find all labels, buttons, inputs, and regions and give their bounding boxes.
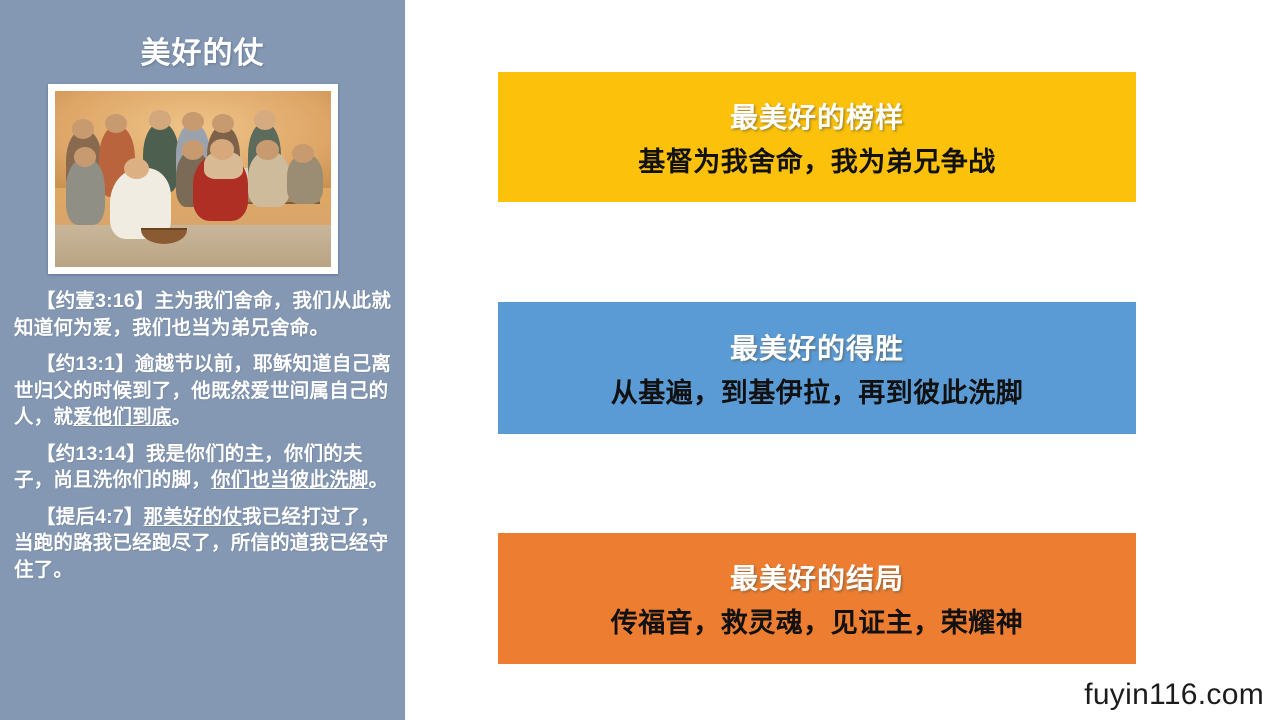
- illustration-frame: [48, 84, 338, 274]
- banner-heading: 最美好的结局: [730, 557, 904, 597]
- banner-best-victory: 最美好的得胜 从基遍，到基伊拉，再到彼此洗脚: [498, 302, 1136, 434]
- verse-segment: 。: [172, 406, 192, 428]
- jesus-washing-feet-image: [55, 91, 331, 267]
- verse-segment: 【约13:1】逾越节以前，耶稣知道自己离世归父的时候到了，他既然爱世间属自己的人…: [14, 353, 391, 428]
- banner-subheading: 从基遍，到基伊拉，再到彼此洗脚: [611, 371, 1024, 410]
- banner-heading: 最美好的得胜: [730, 327, 904, 367]
- verse-1-john-3-16: 【约壹3:16】主为我们舍命，我们从此就知道何为爱，我们也当为弟兄舍命。: [14, 288, 396, 341]
- banner-heading: 最美好的榜样: [730, 96, 904, 136]
- sidebar-panel: 美好的仗: [0, 0, 405, 720]
- verse-segment: 【提后4:7】: [36, 506, 144, 528]
- banner-best-ending: 最美好的结局 传福音，救灵魂，见证主，荣耀神: [498, 533, 1136, 664]
- page-title: 美好的仗: [0, 0, 405, 72]
- verse-segment: 。: [369, 469, 389, 491]
- verse-segment-underlined: 爱他们到底: [73, 406, 172, 428]
- banner-best-example: 最美好的榜样 基督为我舍命，我为弟兄争战: [498, 72, 1136, 202]
- site-watermark: fuyin116.com: [1084, 678, 1264, 712]
- presentation-slide: 美好的仗: [0, 0, 1280, 720]
- verse-segment-underlined: 你们也当彼此洗脚: [211, 469, 369, 491]
- verse-john-13-1: 【约13:1】逾越节以前，耶稣知道自己离世归父的时候到了，他既然爱世间属自己的人…: [14, 351, 396, 431]
- scripture-verse-list: 【约壹3:16】主为我们舍命，我们从此就知道何为爱，我们也当为弟兄舍命。 【约1…: [14, 288, 396, 593]
- verse-2-timothy-4-7: 【提后4:7】那美好的仗我已经打过了，当跑的路我已经跑尽了，所信的道我已经守住了…: [14, 504, 396, 584]
- verse-segment-underlined: 那美好的仗: [144, 506, 243, 528]
- banner-subheading: 传福音，救灵魂，见证主，荣耀神: [611, 601, 1024, 640]
- verse-john-13-14: 【约13:14】我是你们的主，你们的夫子，尚且洗你们的脚，你们也当彼此洗脚。: [14, 441, 396, 494]
- verse-segment: 【约壹3:16】主为我们舍命，我们从此就知道何为爱，我们也当为弟兄舍命。: [14, 290, 391, 339]
- banner-subheading: 基督为我舍命，我为弟兄争战: [638, 140, 996, 179]
